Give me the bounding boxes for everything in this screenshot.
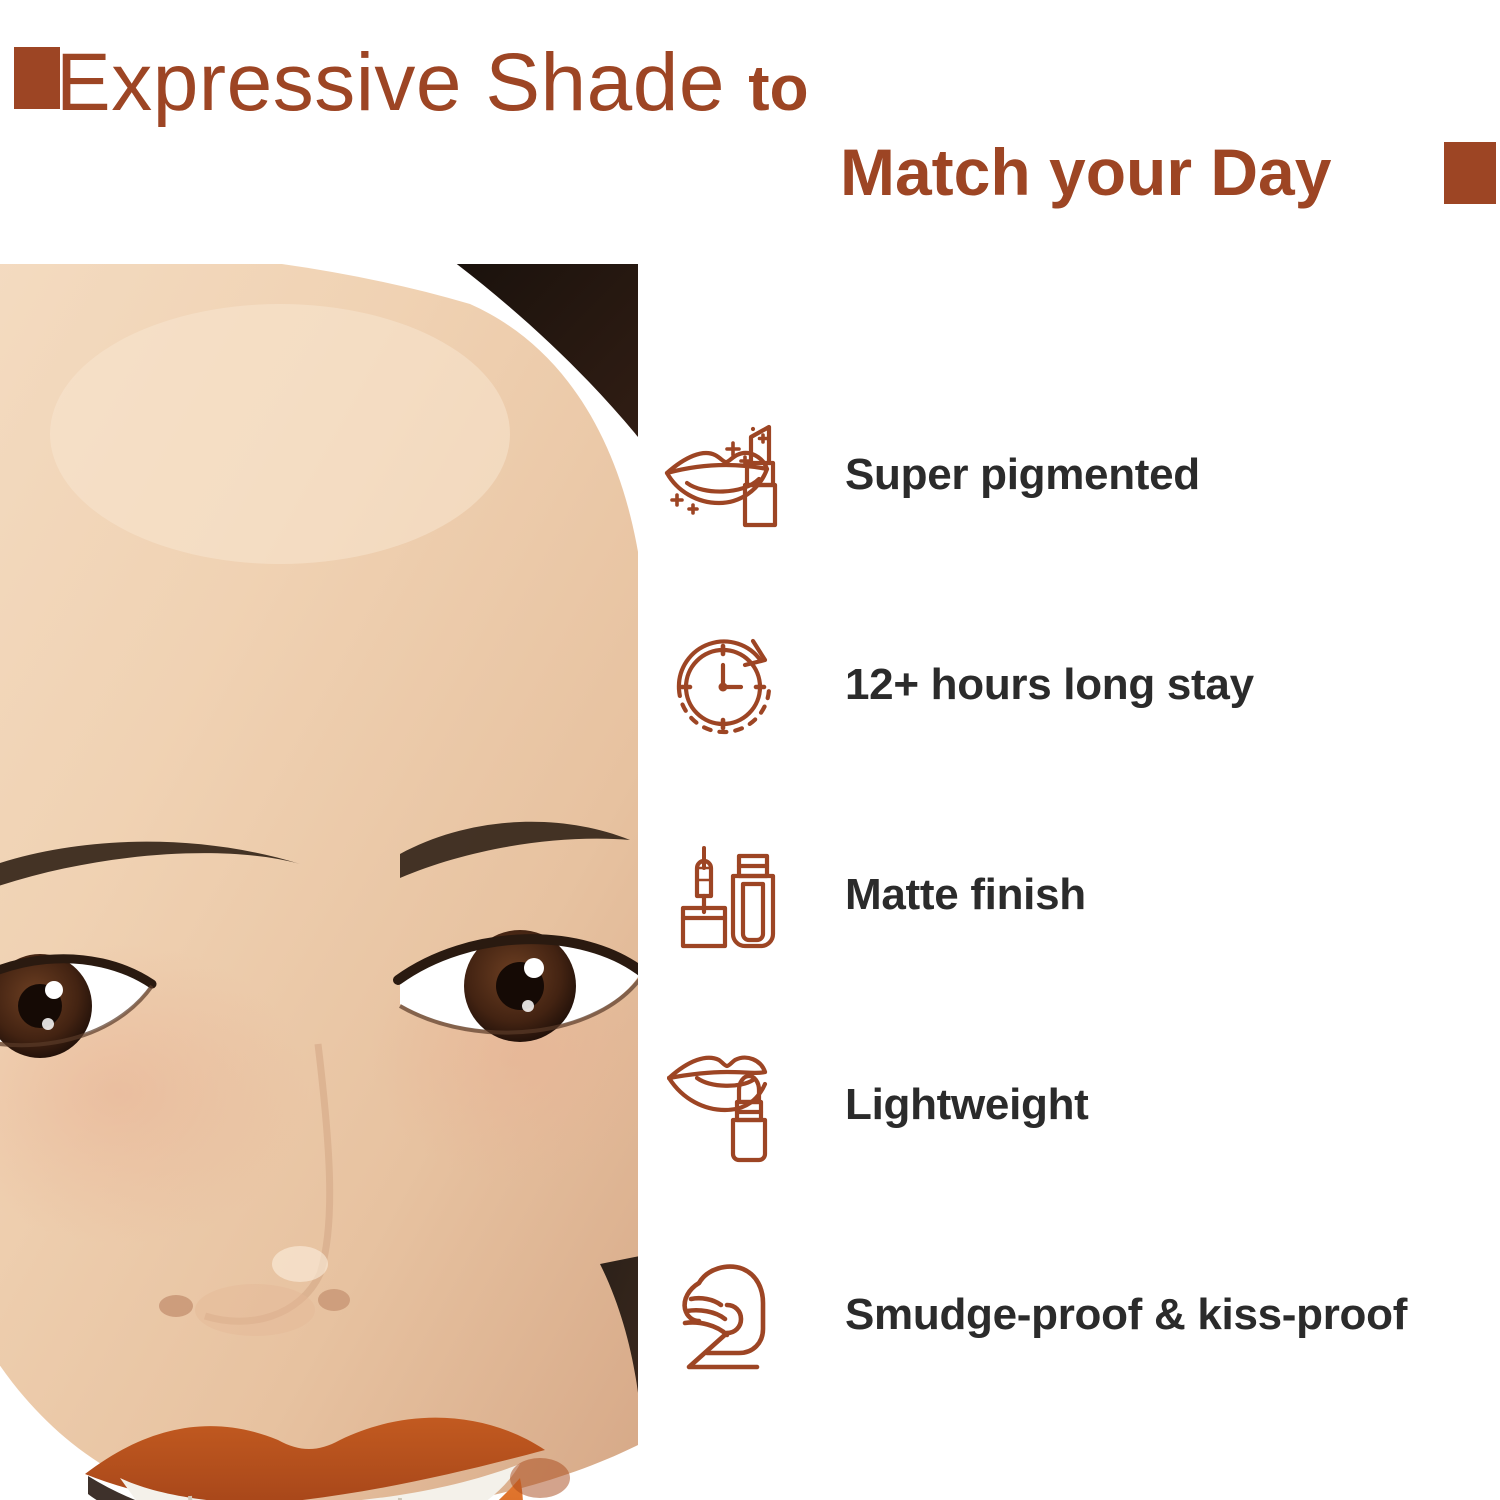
feature-label: Smudge-proof & kiss-proof: [845, 1290, 1407, 1340]
accent-square-left-icon: [14, 47, 60, 109]
lip-gloss-wand-tube-icon: [660, 830, 790, 960]
model-photo-illustration: [0, 264, 638, 1500]
feature-label: Super pigmented: [845, 450, 1200, 500]
clock-arrow-long-stay-icon: [660, 620, 790, 750]
lips-lipstick-bullet-icon: [660, 1040, 790, 1170]
product-feature-banner: Expressive Shade to Match your Day: [0, 0, 1500, 1500]
lips-lipstick-sparkle-icon: [660, 410, 790, 540]
feature-item: Super pigmented: [660, 370, 1500, 580]
feature-label: 12+ hours long stay: [845, 660, 1254, 710]
feature-list: Super pigmented 12+ hours long stay: [660, 370, 1500, 1420]
feature-item: Lightweight: [660, 1000, 1500, 1210]
feature-label: Matte finish: [845, 870, 1086, 920]
feature-label: Lightweight: [845, 1080, 1089, 1130]
headline-line-1: Expressive Shade to: [56, 35, 809, 136]
headline-regular-text: Expressive Shade: [56, 37, 725, 128]
feature-item: Smudge-proof & kiss-proof: [660, 1210, 1500, 1420]
model-photo: [0, 264, 638, 1500]
headline-bold-to: to: [748, 52, 808, 124]
feature-item: 12+ hours long stay: [660, 580, 1500, 790]
hand-rub-smudge-icon: [660, 1250, 790, 1380]
banner-header: Expressive Shade to Match your Day: [0, 0, 1500, 255]
headline-line-2: Match your Day: [840, 132, 1331, 212]
feature-item: Matte finish: [660, 790, 1500, 1000]
accent-square-right-icon: [1444, 142, 1496, 204]
